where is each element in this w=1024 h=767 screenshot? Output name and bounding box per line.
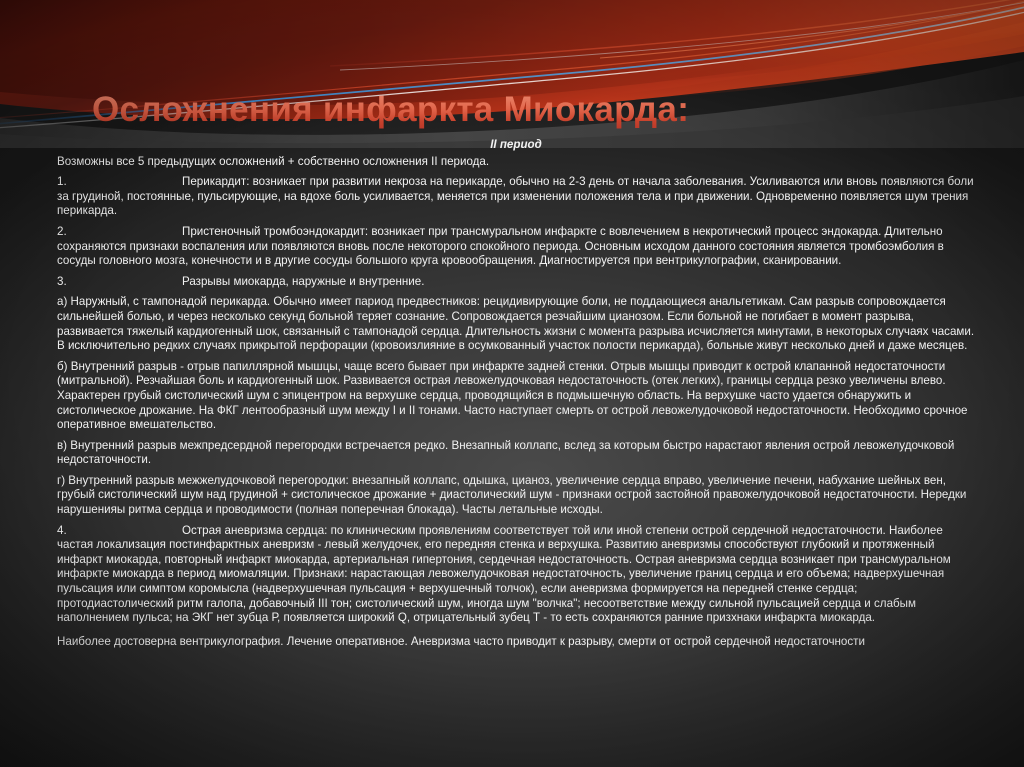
list-text-4: Острая аневризма сердца: по клиническим …: [57, 524, 951, 625]
presentation-slide: Осложнения инфаркта Миокарда: II период …: [0, 0, 1024, 767]
list-marker-1: 1.: [57, 175, 182, 190]
list-text-2: Пристеночный тромбоэндокардит: возникает…: [57, 225, 944, 267]
list-marker-2: 2.: [57, 225, 182, 240]
sub-item-v: в) Внутренний разрыв межпредсердной пере…: [57, 439, 975, 468]
period-heading: II период: [57, 138, 975, 153]
sub-item-a: а) Наружный, с тампонадой перикарда. Обы…: [57, 295, 975, 353]
list-text-1: Перикардит: возникает при развитии некро…: [57, 175, 974, 217]
intro-paragraph: Возможны все 5 предыдущих осложнений + с…: [57, 155, 975, 170]
list-item-2: 2.Пристеночный тромбоэндокардит: возника…: [57, 225, 975, 269]
list-text-3: Разрывы миокарда, наружные и внутренние.: [182, 275, 424, 288]
conclusion-paragraph: Наиболее достоверна вентрикулография. Ле…: [57, 635, 975, 650]
list-item-1: 1.Перикардит: возникает при развитии нек…: [57, 175, 975, 219]
sub-item-b: б) Внутренний разрыв - отрыв папиллярной…: [57, 360, 975, 433]
list-marker-3: 3.: [57, 275, 182, 290]
list-item-3: 3.Разрывы миокарда, наружные и внутренни…: [57, 275, 975, 290]
list-item-4: 4.Острая аневризма сердца: по клинически…: [57, 524, 975, 626]
sub-item-g: г) Внутренний разрыв межжелудочковой пер…: [57, 474, 975, 518]
list-marker-4: 4.: [57, 524, 182, 539]
slide-body: II период Возможны все 5 предыдущих осло…: [57, 138, 975, 649]
slide-title: Осложнения инфаркта Миокарда:: [92, 91, 972, 130]
